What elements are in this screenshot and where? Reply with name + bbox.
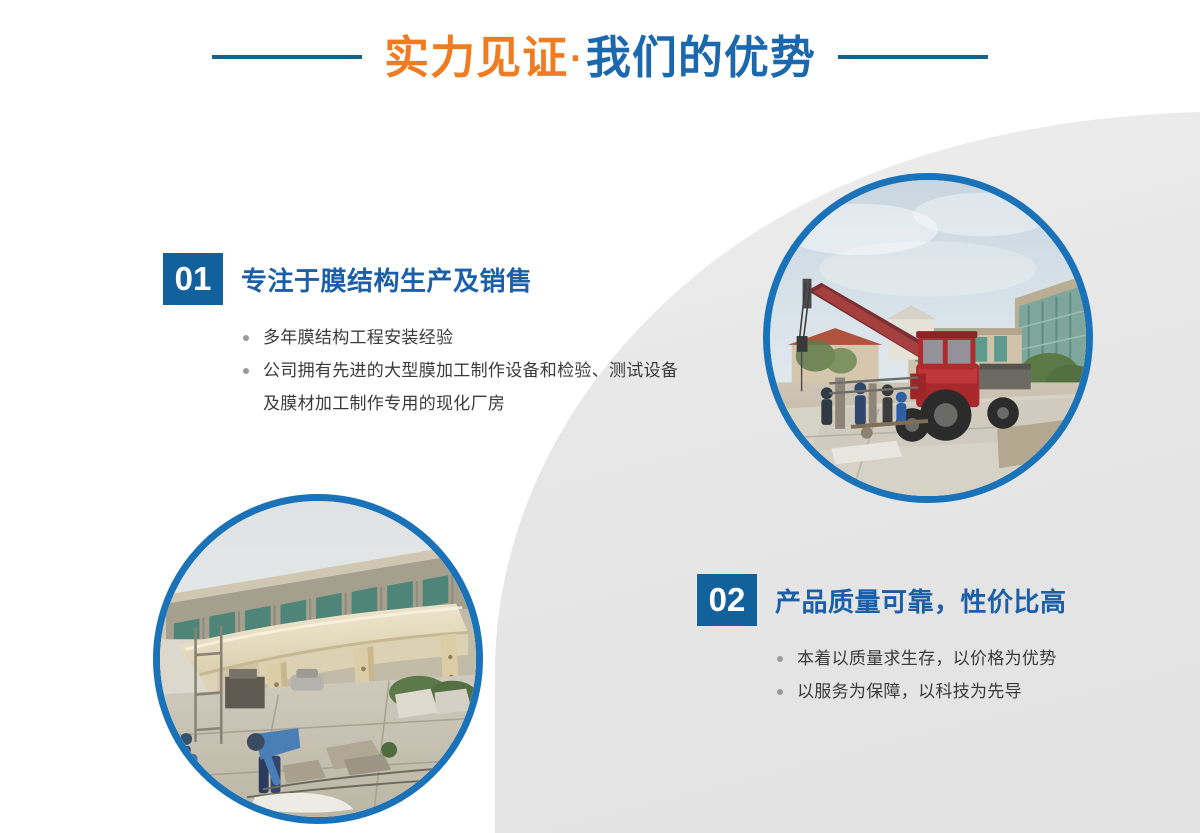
- feature-02-bullet-item: 本着以质量求生存，以价格为优势: [775, 642, 1067, 675]
- header-rule-right: [838, 55, 988, 59]
- page-title-blue: 我们的优势: [586, 32, 816, 83]
- bullet-dot-icon: [777, 689, 783, 695]
- bullet-dot-icon: [243, 335, 249, 341]
- feature-01-number-badge: 01: [163, 253, 223, 305]
- feature-01-bullet-text: 公司拥有先进的大型膜加工制作设备和检验、测试设备及膜材加工制作专用的现化厂房: [263, 361, 678, 413]
- feature-01-heading: 01 专注于膜结构生产及销售: [163, 253, 693, 305]
- page-title: 实力见证·我们的优势: [384, 35, 816, 80]
- feature-01-title: 专注于膜结构生产及销售: [241, 261, 533, 298]
- feature-01-bullet-list: 多年膜结构工程安装经验 公司拥有先进的大型膜加工制作设备和检验、测试设备及膜材加…: [241, 321, 693, 420]
- page-title-separator: ·: [568, 38, 586, 80]
- promo-banner-page: 实力见证·我们的优势 01 专注于膜结构生产及销售 多年膜结构工程安装经验 公司…: [0, 0, 1200, 833]
- feature-01-bullet-item: 多年膜结构工程安装经验: [241, 321, 693, 354]
- feature-02-photo: [153, 494, 483, 824]
- feature-02-number-badge: 02: [697, 574, 757, 626]
- feature-02-bullet-item: 以服务为保障，以科技为先导: [775, 675, 1067, 708]
- feature-02-bullet-text: 以服务为保障，以科技为先导: [797, 682, 1022, 701]
- feature-02-title: 产品质量可靠，性价比高: [775, 582, 1067, 619]
- feature-02-bullet-list: 本着以质量求生存，以价格为优势 以服务为保障，以科技为先导: [775, 642, 1067, 708]
- feature-02-bullet-text: 本着以质量求生存，以价格为优势: [797, 649, 1057, 668]
- feature-02-heading: 02 产品质量可靠，性价比高: [697, 574, 1067, 626]
- feature-block-02: 02 产品质量可靠，性价比高 本着以质量求生存，以价格为优势 以服务为保障，以科…: [697, 574, 1067, 708]
- page-title-orange: 实力见证: [384, 32, 568, 83]
- header-rule-left: [212, 55, 362, 59]
- page-header: 实力见证·我们的优势: [0, 0, 1200, 118]
- feature-01-bullet-item: 公司拥有先进的大型膜加工制作设备和检验、测试设备及膜材加工制作专用的现化厂房: [241, 354, 693, 420]
- bullet-dot-icon: [777, 656, 783, 662]
- feature-01-photo: [763, 173, 1093, 503]
- feature-01-bullet-text: 多年膜结构工程安装经验: [263, 328, 453, 347]
- bullet-dot-icon: [243, 368, 249, 374]
- feature-block-01: 01 专注于膜结构生产及销售 多年膜结构工程安装经验 公司拥有先进的大型膜加工制…: [163, 253, 693, 420]
